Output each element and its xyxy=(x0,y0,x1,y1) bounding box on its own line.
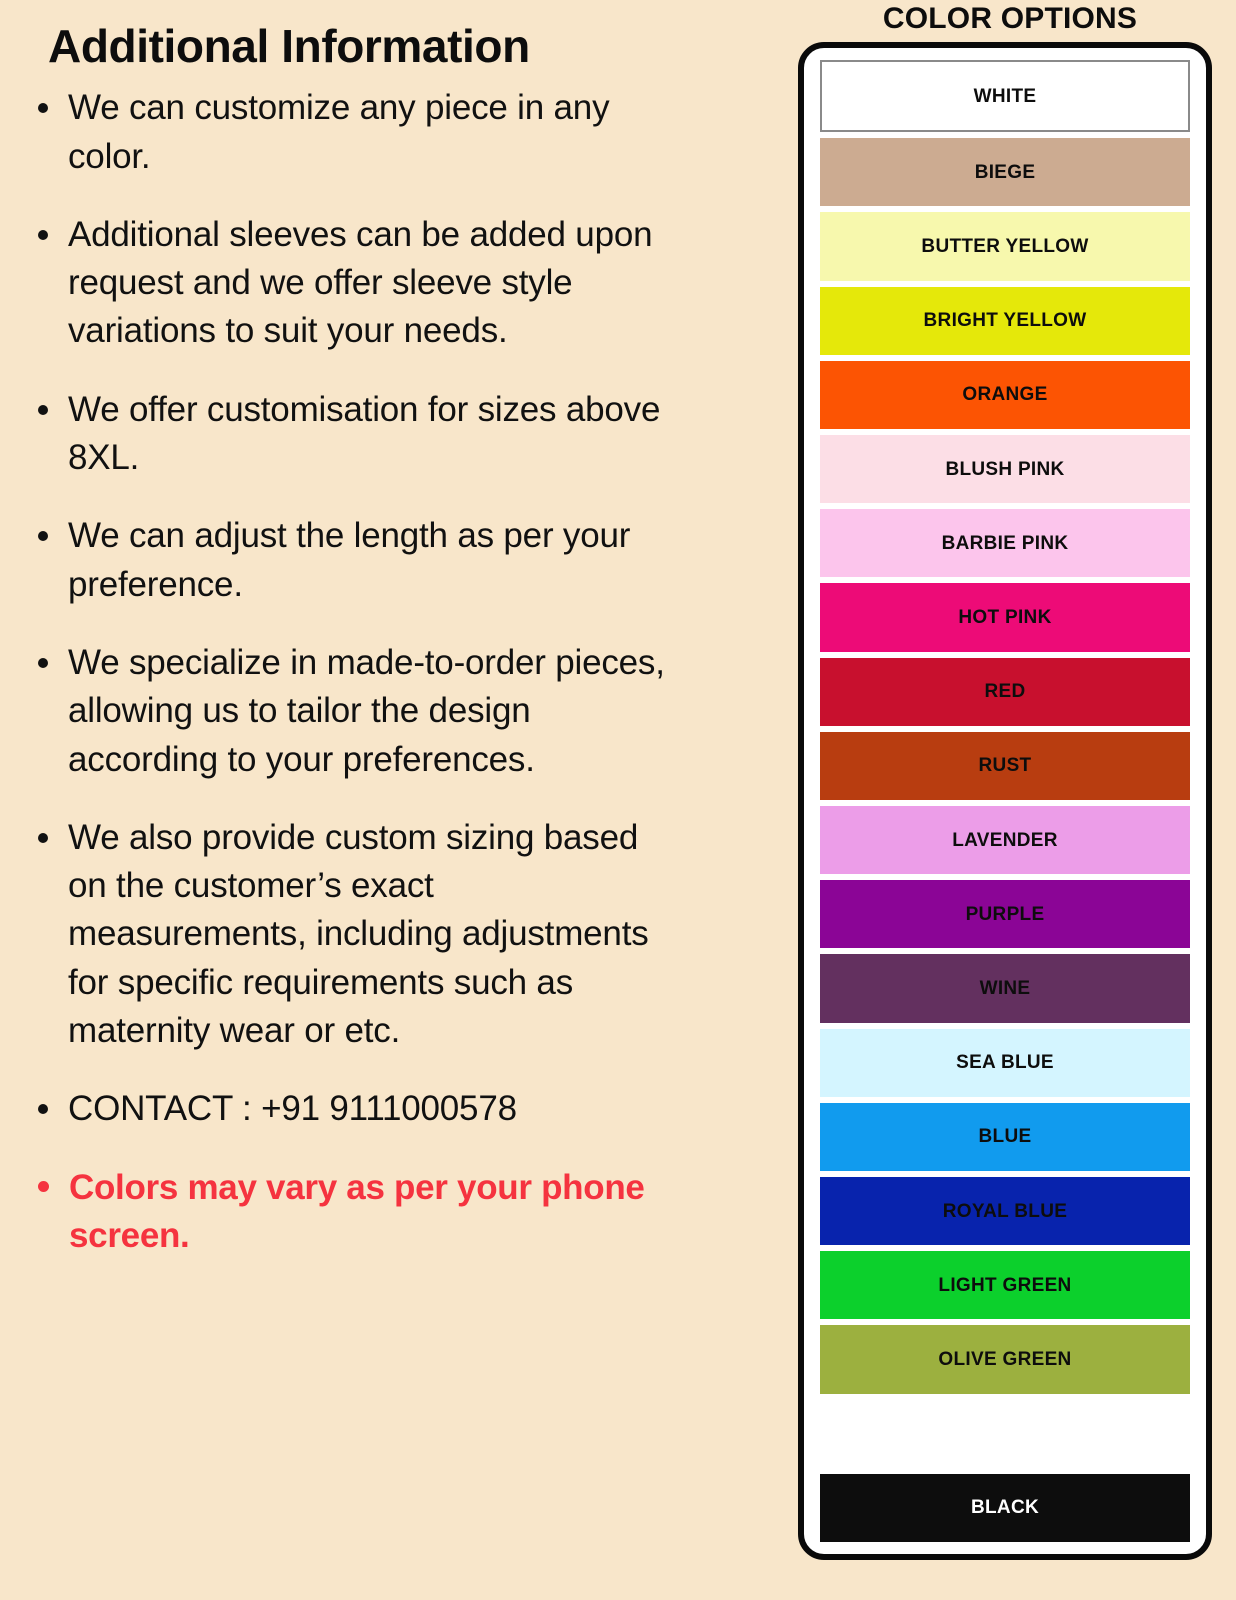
list-item: Colors may vary as per your phone screen… xyxy=(34,1164,764,1261)
color-swatch[interactable]: LIGHT GREEN xyxy=(820,1251,1190,1319)
list-item-text: We also provide custom sizing based on t… xyxy=(68,814,668,1055)
color-swatch-label: BUTTER YELLOW xyxy=(921,237,1088,256)
color-swatch-label: LIGHT GREEN xyxy=(938,1276,1071,1295)
color-swatch-label: WINE xyxy=(980,979,1031,998)
list-item-text: We specialize in made-to-order pieces, a… xyxy=(68,639,668,784)
poster-root: Additional Information We can customize … xyxy=(0,0,1236,1600)
color-swatch-label: ROYAL BLUE xyxy=(943,1202,1067,1221)
color-swatch[interactable]: OLIVE GREEN xyxy=(820,1325,1190,1393)
list-item: We offer customisation for sizes above 8… xyxy=(34,386,764,483)
list-item: We specialize in made-to-order pieces, a… xyxy=(34,639,764,784)
color-swatch[interactable]: LAVENDER xyxy=(820,806,1190,874)
color-swatch[interactable]: BIEGE xyxy=(820,138,1190,206)
information-bullet-list: We can customize any piece in any color.… xyxy=(34,84,764,1260)
color-swatch-label: LAVENDER xyxy=(952,831,1058,850)
color-swatch-label: BRIGHT YELLOW xyxy=(924,311,1087,330)
additional-information-section: Additional Information We can customize … xyxy=(0,0,790,1600)
color-swatch[interactable]: SEA BLUE xyxy=(820,1029,1190,1097)
color-swatch[interactable]: ORANGE xyxy=(820,361,1190,429)
list-item: We can customize any piece in any color. xyxy=(34,84,764,181)
color-swatch-label: BIEGE xyxy=(975,163,1036,182)
color-swatch[interactable]: BRIGHT YELLOW xyxy=(820,287,1190,355)
color-swatch-panel: WHITEBIEGEBUTTER YELLOWBRIGHT YELLOWORAN… xyxy=(798,42,1212,1560)
color-swatch[interactable]: BOTTLE GREEN xyxy=(820,1400,1190,1468)
color-swatch[interactable]: BLACK xyxy=(820,1474,1190,1542)
list-item-text: We can adjust the length as per your pre… xyxy=(68,512,668,609)
color-swatch[interactable]: BUTTER YELLOW xyxy=(820,212,1190,280)
color-swatch-label: OLIVE GREEN xyxy=(938,1350,1071,1369)
list-item-text: Additional sleeves can be added upon req… xyxy=(68,211,668,356)
bullet-dot-icon xyxy=(38,103,48,113)
color-swatch-label: BOTTLE GREEN xyxy=(929,1424,1081,1443)
list-item-text: Colors may vary as per your phone screen… xyxy=(69,1164,669,1261)
color-swatch-label: HOT PINK xyxy=(958,608,1051,627)
color-swatch-label: BLUSH PINK xyxy=(945,460,1064,479)
color-swatch-label: SEA BLUE xyxy=(956,1053,1054,1072)
list-item: We can adjust the length as per your pre… xyxy=(34,512,764,609)
list-item: We also provide custom sizing based on t… xyxy=(34,814,764,1055)
color-swatch[interactable]: WHITE xyxy=(820,60,1190,132)
list-item-text: We offer customisation for sizes above 8… xyxy=(68,386,668,483)
color-swatch-label: BLUE xyxy=(979,1127,1032,1146)
color-swatch[interactable]: RUST xyxy=(820,732,1190,800)
bullet-dot-icon xyxy=(38,230,48,240)
list-item-text: We can customize any piece in any color. xyxy=(68,84,668,181)
list-item-text: CONTACT : +91 9111000578 xyxy=(68,1085,517,1133)
color-swatch-label: BARBIE PINK xyxy=(942,534,1069,553)
color-swatch-label: ORANGE xyxy=(962,385,1047,404)
color-swatch[interactable]: BARBIE PINK xyxy=(820,509,1190,577)
color-swatch[interactable]: BLUE xyxy=(820,1103,1190,1171)
color-swatch[interactable]: BLUSH PINK xyxy=(820,435,1190,503)
bullet-dot-icon xyxy=(38,658,48,668)
color-swatch[interactable]: PURPLE xyxy=(820,880,1190,948)
bullet-dot-icon xyxy=(38,405,48,415)
color-swatch[interactable]: WINE xyxy=(820,954,1190,1022)
color-swatch[interactable]: HOT PINK xyxy=(820,583,1190,651)
color-options-heading: COLOR OPTIONS xyxy=(790,2,1236,35)
color-swatch-label: BLACK xyxy=(971,1498,1039,1517)
page-title: Additional Information xyxy=(48,22,764,70)
color-swatch-label: WHITE xyxy=(974,87,1037,106)
color-swatch[interactable]: RED xyxy=(820,658,1190,726)
bullet-dot-icon xyxy=(38,1181,49,1192)
color-options-section: COLOR OPTIONS WHITEBIEGEBUTTER YELLOWBRI… xyxy=(790,0,1236,1600)
color-swatch-label: RUST xyxy=(979,756,1032,775)
color-swatch-label: PURPLE xyxy=(966,905,1045,924)
bullet-dot-icon xyxy=(38,1104,48,1114)
bullet-dot-icon xyxy=(38,833,48,843)
color-swatch-label: RED xyxy=(984,682,1025,701)
list-item: CONTACT : +91 9111000578 xyxy=(34,1085,764,1133)
bullet-dot-icon xyxy=(38,531,48,541)
color-swatch[interactable]: ROYAL BLUE xyxy=(820,1177,1190,1245)
list-item: Additional sleeves can be added upon req… xyxy=(34,211,764,356)
